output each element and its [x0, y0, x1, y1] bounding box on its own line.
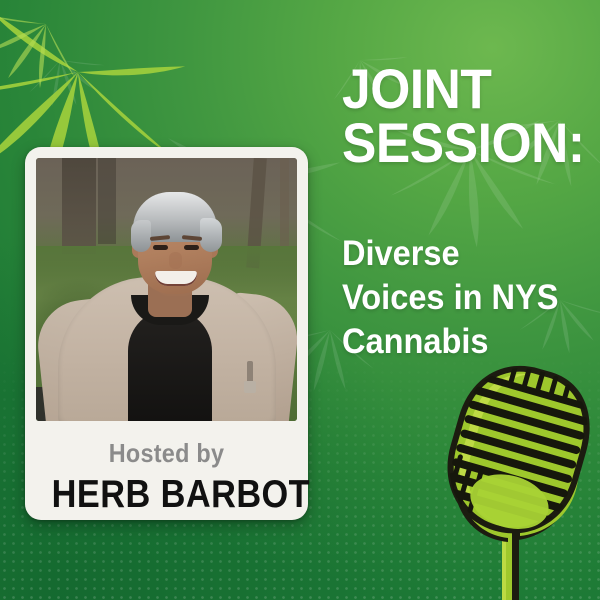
black-shirt	[128, 309, 212, 421]
tree-trunk-icon	[280, 158, 289, 250]
headline-block: JOINT SESSION:	[342, 62, 592, 170]
subtitle-block: Diverse Voices in NYS Cannabis	[342, 232, 582, 364]
jacket-zipper-tab	[244, 381, 256, 393]
host-name: HERB BARBOT	[52, 473, 282, 517]
host-photo	[36, 158, 297, 421]
host-card: Hosted by HERB BARBOT	[25, 147, 308, 520]
tree-trunk-icon	[98, 158, 116, 244]
nose	[169, 252, 182, 269]
left-eye	[153, 245, 168, 250]
hair-left-side	[131, 220, 151, 252]
retro-microphone-icon	[432, 352, 600, 600]
hair-right-side	[200, 218, 222, 252]
tree-trunk-icon	[62, 158, 96, 254]
right-eye	[184, 245, 199, 250]
headline-line-2: SESSION:	[342, 116, 572, 170]
podcast-cover-poster: Hosted by HERB BARBOT JOINT SESSION: Div…	[0, 0, 600, 600]
chin	[156, 284, 196, 296]
subtitle-line-1: Diverse	[342, 232, 565, 276]
headline-line-1: JOINT	[342, 62, 572, 116]
hosted-by-label: Hosted by	[49, 438, 284, 469]
subtitle-line-2: Voices in NYS	[342, 276, 565, 320]
